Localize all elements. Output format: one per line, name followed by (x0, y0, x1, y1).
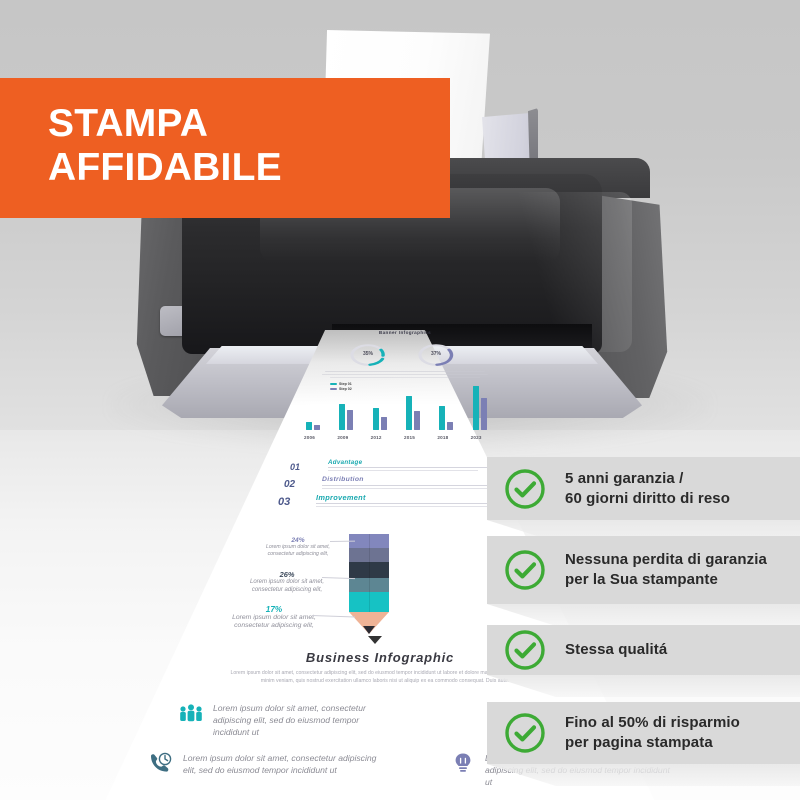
feature-badge-text-3: Stessa qualitá (565, 640, 667, 660)
feature-badge-2[interactable]: Nessuna perdita di garanziaper la Sua st… (487, 536, 800, 604)
feature-line-2: per pagina stampata (565, 733, 740, 753)
check-circle-icon (503, 548, 547, 592)
feature-badge-text-4: Fino al 50% di risparmioper pagina stamp… (565, 713, 740, 753)
feature-line-1: Nessuna perdita di garanzia (565, 550, 767, 570)
headline-banner: STAMPA AFFIDABILE (0, 78, 450, 218)
headline-text: STAMPA AFFIDABILE (48, 102, 282, 189)
headline-line-1: STAMPA (48, 102, 282, 146)
feature-line-1: Stessa qualitá (565, 640, 667, 660)
feature-badge-4[interactable]: Fino al 50% di risparmioper pagina stamp… (487, 702, 800, 764)
feature-line-1: 5 anni garanzia / (565, 469, 730, 489)
feature-badge-1[interactable]: 5 anni garanzia /60 giorni diritto di re… (487, 457, 800, 520)
check-circle-icon (503, 467, 547, 511)
feature-line-2: per la Sua stampante (565, 570, 767, 590)
feature-badge-3[interactable]: Stessa qualitá (487, 625, 800, 675)
feature-line-2: 60 giorni diritto di reso (565, 489, 730, 509)
check-circle-icon (503, 628, 547, 672)
check-circle-icon (503, 711, 547, 755)
poster-canvas: Banner Infographics 35% 37% (0, 0, 800, 800)
feature-badge-text-2: Nessuna perdita di garanziaper la Sua st… (565, 550, 767, 590)
feature-line-1: Fino al 50% di risparmio (565, 713, 740, 733)
feature-badge-text-1: 5 anni garanzia /60 giorni diritto di re… (565, 469, 730, 509)
headline-line-2: AFFIDABILE (48, 146, 282, 190)
